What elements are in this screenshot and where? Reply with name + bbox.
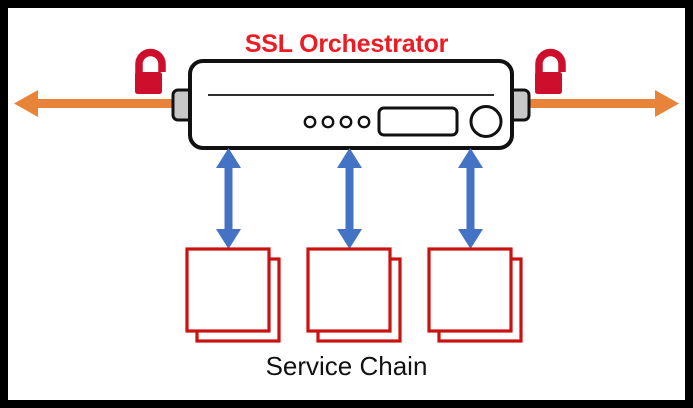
service-box-3[interactable] xyxy=(429,249,521,341)
service-chain-label: Service Chain xyxy=(8,351,685,382)
service-arrow-2-head-down xyxy=(337,229,362,249)
appliance-chassis xyxy=(190,61,512,148)
diagram-stage: SSL Orchestrator Service Chain xyxy=(8,8,685,400)
service-arrow-2-shaft xyxy=(346,160,354,236)
service-arrow-1 xyxy=(216,148,241,249)
service-arrow-3-head-down xyxy=(458,229,483,249)
service-arrow-3-shaft xyxy=(467,160,475,236)
service-arrow-2-head-up xyxy=(337,148,362,168)
status-light-3 xyxy=(341,117,351,127)
status-light-1 xyxy=(305,117,315,127)
service-arrow-1-head-up xyxy=(216,148,241,168)
page-title: SSL Orchestrator xyxy=(8,30,685,59)
service-box-2-front xyxy=(308,249,390,331)
status-light-4 xyxy=(359,117,369,127)
display-panel xyxy=(379,108,457,135)
service-arrow-3 xyxy=(458,148,483,249)
service-box-1[interactable] xyxy=(187,249,279,341)
service-box-1-front xyxy=(187,249,269,331)
ssl-orchestrator-appliance xyxy=(190,61,512,148)
diagram-graphics xyxy=(8,8,685,400)
service-arrow-1-shaft xyxy=(225,160,233,236)
service-box-2[interactable] xyxy=(308,249,400,341)
dial-knob xyxy=(471,107,501,137)
service-arrow-3-head-up xyxy=(458,148,483,168)
diagram-canvas: SSL Orchestrator Service Chain xyxy=(0,0,693,408)
service-arrow-2 xyxy=(337,148,362,249)
status-light-2 xyxy=(323,117,333,127)
arrow-left-icon xyxy=(14,90,38,117)
service-box-3-front xyxy=(429,249,511,331)
left-lock-body xyxy=(135,72,162,94)
arrow-right-icon xyxy=(655,90,679,117)
service-arrow-1-head-down xyxy=(216,229,241,249)
right-lock-body xyxy=(535,72,562,94)
